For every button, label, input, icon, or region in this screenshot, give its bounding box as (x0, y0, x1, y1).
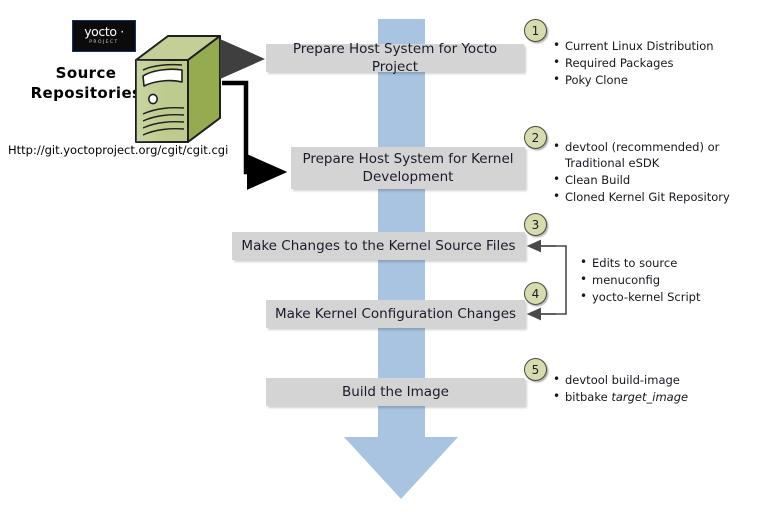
step-badge-5: 5 (524, 358, 547, 381)
bullet-item: bitbake target_image (553, 389, 688, 405)
bullet-item: Current Linux Distribution (553, 38, 714, 54)
step-box-label: Prepare Host System for Yocto Project (272, 40, 518, 76)
step-box-label: Prepare Host System for Kernel Developme… (297, 150, 519, 186)
bullet-item: devtool build-image (553, 372, 688, 388)
bullet-item: Poky Clone (553, 72, 714, 88)
step-box-make-changes-kernel-source[interactable]: Make Changes to the Kernel Source Files (232, 232, 525, 260)
step-box-label: Make Kernel Configuration Changes (275, 305, 516, 323)
step-box-build-the-image[interactable]: Build the Image (266, 378, 525, 406)
bullet-item: devtool (recommended) or Traditional eSD… (553, 139, 769, 171)
bullets-step-5: devtool build-imagebitbake target_image (553, 372, 688, 406)
step-box-prepare-host-yocto[interactable]: Prepare Host System for Yocto Project (266, 44, 524, 72)
bullets-step-1: Current Linux DistributionRequired Packa… (553, 38, 714, 89)
step-box-label: Make Changes to the Kernel Source Files (241, 237, 515, 255)
arrow-source-to-step2 (222, 83, 281, 172)
bracket-steps-3-4 (540, 246, 566, 314)
step-badge-4: 4 (524, 282, 547, 305)
step-box-make-kernel-config-changes[interactable]: Make Kernel Configuration Changes (266, 300, 525, 328)
bullet-item: menuconfig (580, 272, 701, 288)
bullet-item: Clean Build (553, 172, 769, 188)
bullet-item: Cloned Kernel Git Repository (553, 189, 769, 205)
bullets-step-2: devtool (recommended) or Traditional eSD… (553, 139, 769, 206)
step-box-label: Build the Image (342, 383, 449, 401)
bullet-item: Edits to source (580, 255, 701, 271)
bullets-steps-3-4: Edits to sourcemenuconfigyocto-kernel Sc… (580, 255, 701, 306)
step-box-prepare-host-kernel[interactable]: Prepare Host System for Kernel Developme… (291, 147, 525, 189)
bullet-item: Required Packages (553, 55, 714, 71)
bullet-item: yocto-kernel Script (580, 289, 701, 305)
step-badge-2: 2 (524, 126, 547, 149)
step-badge-3: 3 (524, 213, 547, 236)
diagram-canvas: yocto · PROJECT Source Repositories Http… (0, 0, 769, 517)
step-badge-1: 1 (524, 19, 547, 42)
